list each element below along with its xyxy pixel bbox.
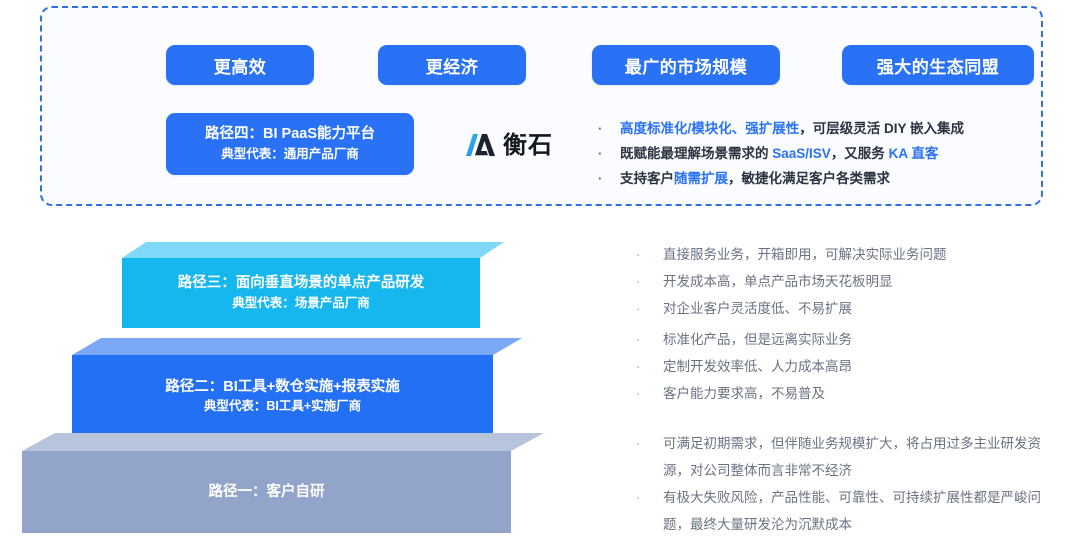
bullet-dot-icon: · <box>636 326 663 353</box>
plain-text: 既赋能最理解场景需求的 <box>620 146 772 161</box>
advantage-pill-label: 更高效 <box>214 53 267 78</box>
step-subtitle: 典型代表：场景产品厂商 <box>232 294 370 313</box>
list-item-text: 对企业客户灵活度低、不易扩展 <box>663 295 1056 322</box>
panel-bullet-item: · 支持客户随需扩展，敏捷化满足客户各类需求 <box>598 166 1058 191</box>
list-item: · 有极大失败风险，产品性能、可靠性、可持续扩展性都是严峻问题，最终大量研发沦为… <box>636 484 1056 538</box>
list-item: · 直接服务业务，开箱即用，可解决实际业务问题 <box>636 241 1056 268</box>
step-front-face: 路径一：客户自研 <box>22 451 511 533</box>
stair-step-path-one[interactable]: 路径一：客户自研 <box>22 433 544 533</box>
step-title: 路径一：客户自研 <box>209 482 325 502</box>
advantage-pill-1[interactable]: 更经济 <box>378 45 526 85</box>
step-title: 路径二：BI工具+数仓实施+报表实施 <box>165 377 399 397</box>
mountain-a-logo-icon <box>466 133 496 157</box>
advantage-pill-label: 强大的生态同盟 <box>877 53 1000 78</box>
bullet-dot-icon: · <box>636 268 663 295</box>
panel-bullet-text: 支持客户随需扩展，敏捷化满足客户各类需求 <box>620 166 890 191</box>
highlight-text: SaaS/ISV <box>772 146 831 161</box>
advantage-pill-2[interactable]: 最广的市场规模 <box>592 45 780 85</box>
step-title: 路径三：面向垂直场景的单点产品研发 <box>178 273 425 293</box>
list-item-text: 客户能力要求高，不易普及 <box>663 380 1056 407</box>
list-item: · 定制开发效率低、人力成本高昂 <box>636 353 1056 380</box>
panel-bullet-list: · 高度标准化/模块化、强扩展性，可层级灵活 DIY 嵌入集成 · 既赋能最理解… <box>598 116 1058 191</box>
list-item: · 对企业客户灵活度低、不易扩展 <box>636 295 1056 322</box>
bullet-dot-icon: · <box>598 116 620 141</box>
bullet-dot-icon: · <box>636 353 663 380</box>
list-item-text: 标准化产品，但是远离实际业务 <box>663 326 1056 353</box>
bullet-dot-icon: · <box>636 380 663 407</box>
bullet-dot-icon: · <box>636 295 663 322</box>
step-front-face: 路径三：面向垂直场景的单点产品研发 典型代表：场景产品厂商 <box>122 258 480 328</box>
list-item: · 开发成本高，单点产品市场天花板明显 <box>636 268 1056 295</box>
bullet-dot-icon: · <box>598 166 620 191</box>
panel-bullet-item: · 既赋能最理解场景需求的 SaaS/ISV，又服务 KA 直客 <box>598 141 1058 166</box>
list-item-text: 定制开发效率低、人力成本高昂 <box>663 353 1056 380</box>
advantage-pill-0[interactable]: 更高效 <box>166 45 314 85</box>
highlight-text: 随需扩展 <box>674 171 728 186</box>
highlight-text: KA 直客 <box>889 146 939 161</box>
plain-text: 支持客户 <box>620 171 674 186</box>
advantages-panel: 更高效 更经济 最广的市场规模 强大的生态同盟 路径四：BI PaaS能力平台 … <box>40 6 1043 206</box>
panel-bullet-text: 高度标准化/模块化、强扩展性，可层级灵活 DIY 嵌入集成 <box>620 116 964 141</box>
bullet-dot-icon: · <box>598 141 620 166</box>
step-top-face <box>72 338 522 355</box>
step-top-face <box>22 433 544 451</box>
bullet-dot-icon: · <box>636 484 663 511</box>
list-item: · 客户能力要求高，不易普及 <box>636 380 1056 407</box>
advantage-pill-label: 最广的市场规模 <box>625 53 748 78</box>
list-item-text: 可满足初期需求，但伴随业务规模扩大，将占用过多主业研发资源，对公司整体而言非常不… <box>663 430 1056 484</box>
path-four-title: 路径四：BI PaaS能力平台 <box>205 125 375 145</box>
step-subtitle: 典型代表：BI工具+实施厂商 <box>204 397 361 416</box>
bullet-group-path-three: · 直接服务业务，开箱即用，可解决实际业务问题 · 开发成本高，单点产品市场天花… <box>636 241 1056 322</box>
bullet-group-path-two: · 标准化产品，但是远离实际业务 · 定制开发效率低、人力成本高昂 · 客户能力… <box>636 326 1056 407</box>
path-four-subtitle: 典型代表：通用产品厂商 <box>221 145 359 163</box>
list-item: · 标准化产品，但是远离实际业务 <box>636 326 1056 353</box>
stair-step-path-three[interactable]: 路径三：面向垂直场景的单点产品研发 典型代表：场景产品厂商 <box>122 242 504 328</box>
path-four-card[interactable]: 路径四：BI PaaS能力平台 典型代表：通用产品厂商 <box>166 113 414 175</box>
step-front-face: 路径二：BI工具+数仓实施+报表实施 典型代表：BI工具+实施厂商 <box>72 355 493 438</box>
plain-text: ，敏捷化满足客户各类需求 <box>728 171 890 186</box>
plain-text: ，又服务 <box>831 146 889 161</box>
bullet-group-path-one: · 可满足初期需求，但伴随业务规模扩大，将占用过多主业研发资源，对公司整体而言非… <box>636 430 1056 538</box>
list-item: · 可满足初期需求，但伴随业务规模扩大，将占用过多主业研发资源，对公司整体而言非… <box>636 430 1056 484</box>
panel-bullet-text: 既赋能最理解场景需求的 SaaS/ISV，又服务 KA 直客 <box>620 141 938 166</box>
list-item-text: 有极大失败风险，产品性能、可靠性、可持续扩展性都是严峻问题，最终大量研发沦为沉默… <box>663 484 1056 538</box>
panel-bullet-item: · 高度标准化/模块化、强扩展性，可层级灵活 DIY 嵌入集成 <box>598 116 1058 141</box>
hengshi-logo: 衡石 <box>466 130 553 160</box>
step-top-face <box>122 242 504 258</box>
list-item-text: 开发成本高，单点产品市场天花板明显 <box>663 268 1056 295</box>
list-item-text: 直接服务业务，开箱即用，可解决实际业务问题 <box>663 241 1056 268</box>
bullet-dot-icon: · <box>636 241 663 268</box>
advantage-pill-3[interactable]: 强大的生态同盟 <box>842 45 1034 85</box>
logo-wordmark: 衡石 <box>503 133 553 157</box>
maturity-staircase: 路径三：面向垂直场景的单点产品研发 典型代表：场景产品厂商 路径二：BI工具+数… <box>0 228 600 524</box>
stair-step-path-two[interactable]: 路径二：BI工具+数仓实施+报表实施 典型代表：BI工具+实施厂商 <box>72 338 522 438</box>
advantage-pill-label: 更经济 <box>426 53 479 78</box>
bullet-dot-icon: · <box>636 430 663 457</box>
highlight-text: 高度标准化/模块化、强扩展性 <box>620 121 799 136</box>
plain-text: ，可层级灵活 DIY 嵌入集成 <box>799 121 964 136</box>
